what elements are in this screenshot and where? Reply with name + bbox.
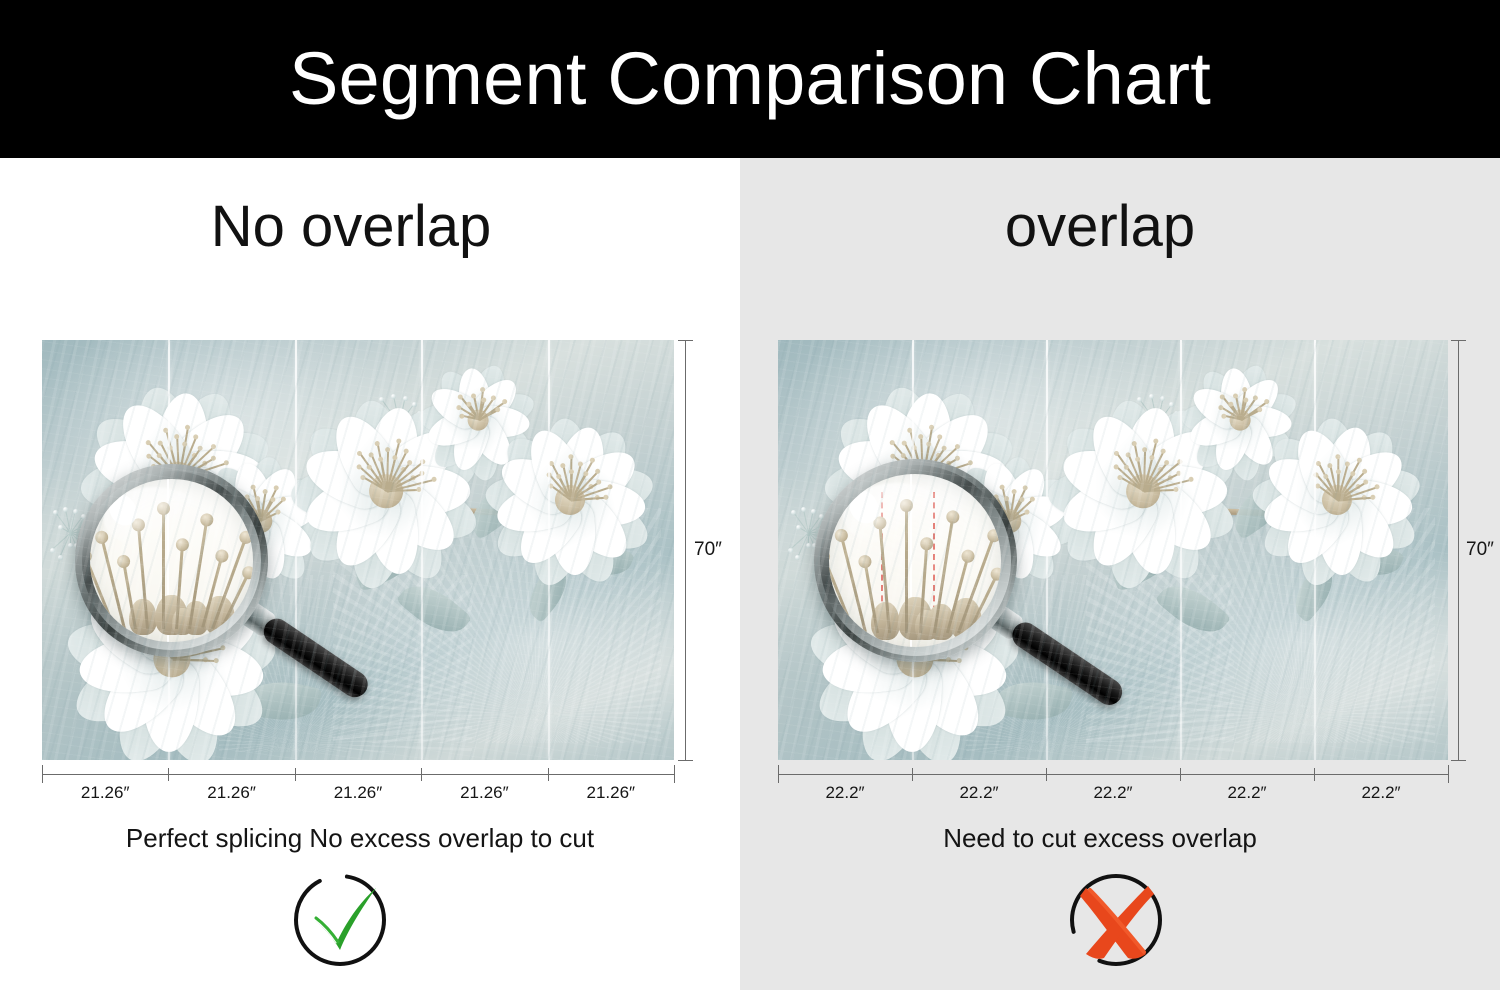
flower-stamen [245,506,261,521]
flower-petal [62,613,168,689]
flower-stamen [1338,486,1359,500]
flower-petal [1262,426,1349,514]
berry [1039,559,1044,564]
segment-width-label: 21.26″ [42,784,168,801]
flower-stamen [1223,397,1242,420]
flower-stamen [473,396,479,420]
berry-stem [1029,550,1042,562]
flower-petal [1321,484,1405,569]
berry-stem [399,398,406,424]
magnified-bud [898,597,932,640]
berry [58,525,63,530]
flower-stamen [991,518,1010,521]
berry [1149,394,1154,399]
flower-stamen [360,466,388,492]
berry [295,537,300,542]
flower-stamen [387,462,424,492]
berry [817,541,822,546]
flower-stamen [1137,460,1144,491]
berry-stem [399,424,412,436]
berry [1371,508,1376,513]
flower-petal [1316,421,1380,505]
flower-core [551,481,588,518]
flower-stamen [469,404,480,420]
flower-stamen [253,487,262,521]
magnifier-ring-inner [820,465,1010,655]
magnified-stamen [864,565,879,633]
flower-stamen [1143,462,1167,491]
flower-stamen [247,496,262,521]
flower-stamen [1241,409,1260,420]
height-dimension-cap-top-right [1451,340,1466,341]
berry-stem [808,533,820,544]
brush-texture-secondary [966,575,1234,751]
flower-stamen [1144,477,1171,491]
flower-petal [464,424,503,482]
verdict-check-icon [284,870,396,970]
flower-stamen [167,617,173,660]
flower-stamen [1009,492,1015,521]
flower-stamen [260,499,273,520]
segment-width-label: 21.26″ [295,784,421,801]
flower-petal [860,562,942,668]
flower-petal [323,406,409,504]
flower-petal [256,489,322,538]
berry [1173,428,1178,433]
flower-petal [427,414,487,475]
segment-width-label: 22.2″ [1314,784,1448,801]
berry-stem [1136,424,1158,444]
flower-stamen [1010,511,1028,521]
berry-stem [400,421,421,424]
mural-leaf [561,530,635,586]
flower-stamen [984,499,1010,521]
flower-petal [492,478,576,540]
flower-stamen [149,455,179,479]
berry [600,508,605,513]
flower-stamen [915,629,938,660]
berry [296,546,301,551]
panel-heading-overlap: overlap [720,198,1480,256]
flower-petal [964,511,1025,580]
magnified-stamen [220,575,248,629]
flower-petal [264,506,330,551]
height-dimension-cap-bottom-left [678,760,693,761]
flower-stamen [260,488,277,521]
mural-branch [115,633,149,706]
flower-petal [1286,422,1358,509]
flower-stamen [1221,407,1241,420]
flower-stamen [915,617,933,660]
flower-petal [465,411,520,472]
flower-stamen [1337,457,1339,500]
magnified-stamen [919,547,928,633]
height-dimension-line-right [1458,340,1459,760]
flower-stamen [178,427,188,479]
width-dimension-tick [1448,765,1449,783]
flower-petal [993,454,1038,520]
flower-stamen [242,518,261,521]
mural-seam [295,340,297,760]
flower-petal [507,486,587,573]
flower-petal [1118,404,1182,495]
magnified-stamen [967,576,997,633]
magnifier-ferrule [238,599,277,637]
mural-flower [289,394,484,589]
panel-no-overlap: No overlap 70″ Perfect splicing No exces… [0,158,740,990]
berry [822,536,827,541]
berry-stem [1019,543,1030,550]
flower-stamen [922,437,940,479]
berry [788,548,793,553]
flower-stamen [922,463,949,480]
berry [294,554,299,559]
mural-seam-magnified [167,479,169,641]
flower-stamen [1338,460,1361,501]
width-dimension-tick [1314,768,1315,781]
berry-stem [793,512,809,534]
berry [630,520,635,525]
flower-petal [1005,489,1071,538]
berry-stem [808,533,809,545]
magnifier-icon [778,340,1448,760]
flower-petal [1056,468,1152,544]
berry [391,394,396,399]
flower-petal [832,430,929,503]
flower-petal [1335,477,1414,530]
flower-petal [905,474,999,578]
flower-stamen [387,477,414,491]
flower-petal [345,397,411,492]
berry [403,396,408,401]
flower-stamen [1116,466,1144,492]
flower-petal [129,381,202,481]
berry [819,514,824,519]
berry-stem [1378,488,1385,516]
magnifier-ferrule [986,602,1025,640]
berry-stem [393,396,400,424]
flower-stamen [460,397,479,420]
flower-stamen [1240,390,1246,420]
flower-petal [893,642,994,750]
mural-artwork [42,340,674,760]
flower-stamen [570,457,572,500]
width-dimension-tick [912,768,913,781]
flower-petal [956,458,1022,529]
overlap-guide-line [881,492,883,623]
berry-stem [1151,396,1158,424]
berry [612,528,617,533]
berry-stem [596,492,615,517]
berry-stem [1363,516,1385,536]
berry-stem [1157,421,1178,424]
berry [811,509,816,514]
berry-stem [1385,505,1405,517]
berry-stem [279,547,299,550]
flower-petal [150,642,251,750]
flower-stamen [257,498,261,520]
magnified-bud [129,599,157,635]
caption-overlap: Need to cut excess overlap [720,825,1480,851]
flower-stamen [892,442,923,479]
flower-petal [370,418,467,511]
berry-stem [71,531,89,534]
flower-stamen [915,606,923,659]
flower-petal [116,562,198,668]
flower-petal [524,503,590,591]
flower-stamen [154,466,179,479]
flower-petal [1000,505,1069,566]
flower-stamen [570,497,605,501]
flower-stamen [1338,486,1377,501]
berry [1376,487,1381,492]
flower-petal [175,620,279,690]
berry [1389,528,1394,533]
flower-petal [978,459,1027,525]
mural-flower [1182,361,1299,478]
flower-stamen [558,476,571,500]
berry [63,507,68,512]
berry-stem [1029,531,1043,550]
flower-petal [89,455,189,537]
berry [376,441,381,446]
berry-stem [71,516,84,534]
flower-stamen [923,462,971,479]
flower-stamen [160,629,172,660]
flower-stamen [1116,453,1144,491]
flower-stamen [915,613,948,660]
berry-stem [55,512,71,534]
flower-petal [1210,415,1256,474]
flower-petal [1254,487,1344,569]
segment-comparison-page: Segment Comparison Chart No overlap 70″ … [0,0,1500,990]
flower-petal [192,495,258,540]
flower-petal [853,393,944,493]
flower-petal [557,439,644,518]
berry-stem [273,524,280,550]
page-title: Segment Comparison Chart [289,42,1211,116]
flower-petal [833,455,933,537]
berry [289,559,294,564]
flower-petal [904,400,1002,497]
berry-stem [1157,424,1158,438]
berry [1370,542,1375,547]
mural-leaf [852,592,932,658]
flower-stamen [1143,452,1164,492]
flower-stamen [1120,477,1144,492]
flower-stamen [549,475,571,501]
flower-petal [229,459,278,525]
flower-petal [886,557,946,656]
flower-petal [345,498,411,593]
berry [415,428,420,433]
flower-petal [907,458,1007,550]
flower-stamen [910,617,916,660]
flower-petal [146,563,233,670]
flower-petal [214,511,275,580]
width-dimension-tick [778,765,779,783]
berry-stem [279,526,285,551]
flower-petal [1013,506,1079,551]
berry [1174,411,1179,416]
flower-petal [1195,364,1251,427]
flower-stamen [387,452,408,492]
berry-stem [1384,516,1391,530]
flower-stamen [386,442,400,492]
flower-petal [823,456,916,515]
berry [385,450,390,455]
berry [50,548,55,553]
flower-petal [88,430,185,503]
flower-stamen [1316,475,1338,501]
berry [81,514,86,519]
berry [282,524,287,529]
berry [1033,561,1038,566]
berry-stem [1013,527,1030,551]
width-dimension-tick [42,765,43,783]
mural-flower [189,449,332,592]
berry-stem [378,424,400,444]
flower-stamen [1338,473,1355,500]
flower-stamen [570,471,598,500]
flower-petal [467,371,525,430]
flower-stamen [1235,396,1241,420]
flower-petal [899,566,1006,676]
mural-branch [231,500,623,520]
berry-stem [70,533,71,545]
flower-petal [1315,498,1365,576]
mural-leaf [518,561,577,623]
berry-stem [71,523,89,534]
flower-petal [323,479,409,577]
berry [1137,397,1142,402]
height-dimension-line-left [685,340,686,760]
flower-stamen [1144,473,1179,492]
flower-petal [1125,488,1213,589]
berry [68,543,73,548]
flower-petal [861,467,945,567]
flower-stamen [1338,497,1364,501]
flower-stamen [387,479,434,492]
flower-petal [178,459,278,534]
mural-seam [1046,340,1048,760]
flower-stamen [562,466,571,500]
flower-petal [834,469,935,569]
berry [801,507,806,512]
mural-leaf [1224,476,1296,540]
berry [812,543,817,548]
flower-stamen [570,482,598,501]
magnified-stamen [829,559,856,634]
flower-petal [806,613,912,689]
flower-stamen [922,456,939,480]
flower-stamen [570,486,609,501]
berry-stem [808,533,824,539]
flower-petal [1240,386,1302,435]
flower-petal [1260,446,1347,519]
flower-petal [200,475,269,536]
flower-petal [84,404,187,499]
berry [277,561,282,566]
flower-stamen [172,617,190,660]
flower-core [466,408,489,431]
berry-stem [614,514,635,517]
flower-petal [65,642,177,738]
flower-petal [455,366,493,422]
flower-stamen [260,492,266,521]
height-dimension-cap-bottom-right [1451,760,1466,761]
berry-stem [279,539,298,551]
flower-petal [494,426,581,514]
flower-stamen [159,455,179,479]
berry [1133,441,1138,446]
berry-stem [279,550,286,564]
flower-stamen [916,659,959,662]
flower-stamen [1240,401,1247,420]
flower-stamen [172,659,215,662]
berry-stem [808,523,826,534]
berry [1397,494,1402,499]
flower-petal [477,404,531,439]
flower-stamen [478,390,484,420]
berry [1016,574,1021,579]
flower-petal [808,642,920,738]
flower-petal [477,386,539,435]
berry [806,543,811,548]
berry-stem [1373,509,1385,517]
mural-leaf [242,674,323,729]
magnified-stamen [933,520,954,633]
flower-stamen [1134,444,1145,492]
magnified-stamen [123,564,137,628]
flower-stamen [920,436,923,478]
segment-width-label: 22.2″ [912,784,1046,801]
flower-stamen [1143,450,1146,491]
berry [618,528,623,533]
berry [1046,537,1051,542]
flower-petal [142,487,204,581]
flower-petal [849,660,938,760]
flower-stamen [178,437,196,479]
berry-stem [1385,514,1406,517]
brush-texture-secondary [219,575,472,751]
flower-stamen [1225,416,1242,421]
magnifier-lens [829,474,1001,646]
flower-stamen [986,510,1010,521]
flower-stamen [178,444,186,479]
berry-stem [798,527,809,534]
magnified-bud [183,601,209,635]
mural-flower [794,538,1036,760]
flower-petal [291,469,378,520]
panel-heading-no-overlap: No overlap [0,198,721,256]
berry [1142,450,1147,455]
mural-seam [912,340,914,760]
berry-stem [279,550,280,563]
flower-petal [1079,406,1165,504]
mural-branch [856,629,892,706]
height-label-left: 70″ [694,539,722,561]
segment-width-label: 22.2″ [778,784,912,801]
flower-petal [1004,469,1075,535]
flower-petal [244,454,289,520]
flower-stamen [178,456,195,480]
berry-stem [1157,398,1164,424]
flower-stamen [172,613,205,660]
berry [600,542,605,547]
mural-leaf [1066,501,1120,566]
flower-petal [1054,414,1154,510]
